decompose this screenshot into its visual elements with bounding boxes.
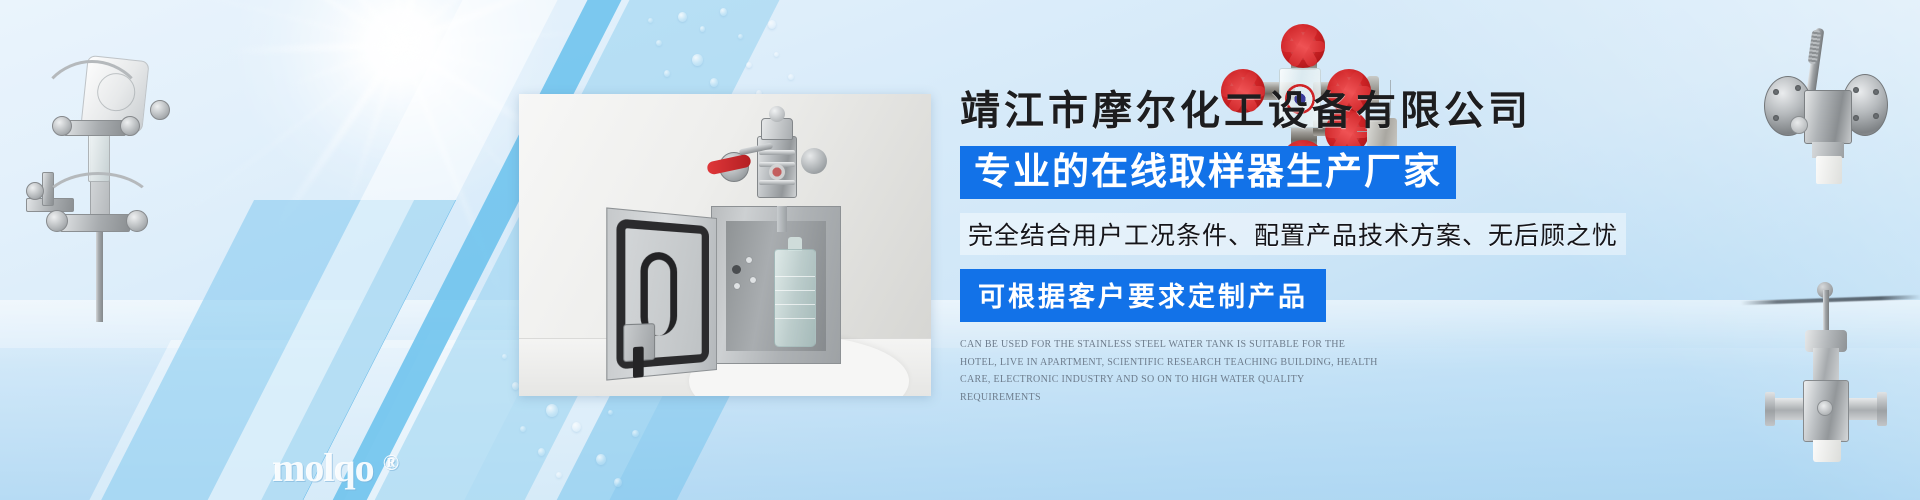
- watermark: molqo ®: [272, 448, 399, 488]
- door-latch: [623, 323, 655, 362]
- watermark-text: molqo: [272, 448, 374, 488]
- diagonal-stripe-white-lower: [329, 330, 551, 500]
- tubing-loop-upper: [34, 60, 150, 180]
- water-droplet-icon: [520, 426, 526, 432]
- water-droplet-icon: [608, 410, 613, 415]
- gate-valve-logo-icon: [1817, 400, 1833, 416]
- water-droplet-icon: [664, 70, 670, 77]
- english-description-text: CAN BE USED FOR THE STAINLESS STEEL WATE…: [960, 336, 1380, 406]
- valve-head-logo-icon: [769, 164, 785, 180]
- sunburst-ray-icon: [398, 44, 509, 310]
- sunburst-ray-icon: [320, 0, 402, 47]
- handwheel-top: [1281, 24, 1325, 68]
- valve-head-knob: [769, 106, 785, 122]
- sunburst-ray-icon: [174, 44, 400, 222]
- cabinet-screw-2: [750, 277, 756, 283]
- water-droplet-icon: [710, 78, 718, 87]
- promotional-banner: 靖江市摩尔化工设备有限公司 专业的在线取样器生产厂家 完全结合用户工况条件、配置…: [0, 0, 1920, 500]
- cabinet-door: [606, 207, 717, 380]
- water-droplet-icon: [632, 430, 639, 437]
- tubing-loop-lower: [38, 172, 158, 252]
- sunburst-ray-icon: [225, 42, 400, 55]
- water-droplet-icon: [614, 478, 622, 487]
- water-droplet-icon: [692, 54, 703, 66]
- valve-head-ring-3: [759, 180, 795, 185]
- sunburst-ray-icon: [399, 43, 517, 77]
- subline-text: 完全结合用户工况条件、配置产品技术方案、无后顾之忧: [960, 213, 1626, 255]
- water-droplet-icon: [512, 382, 519, 390]
- sunburst-ray-icon: [398, 0, 535, 47]
- diagonal-stripe-white-upper: [177, 0, 578, 500]
- customization-highlight-bar: 可根据客户要求定制产品: [960, 269, 1326, 322]
- product-photo: [519, 94, 931, 396]
- water-droplet-icon: [648, 18, 653, 23]
- lever-valve-image: [1750, 28, 1900, 198]
- sunburst-ray-icon: [399, 0, 615, 48]
- water-droplet-icon: [678, 12, 687, 22]
- sampler-valve-head: [741, 118, 811, 210]
- water-droplet-icon: [788, 74, 794, 80]
- water-droplet-icon: [738, 34, 743, 39]
- sample-bottle: [774, 249, 816, 347]
- water-droplet-icon: [768, 20, 776, 29]
- sunburst-ray-icon: [176, 0, 400, 46]
- gate-valve-bottom-cap: [1813, 440, 1841, 462]
- cabinet-screw-1: [746, 257, 752, 263]
- water-droplet-icon: [596, 454, 606, 465]
- water-droplet-icon: [656, 40, 662, 46]
- lever-valve-badge-icon: [1790, 116, 1808, 134]
- water-droplet-icon: [774, 52, 779, 57]
- sunburst-ray-icon: [400, 24, 685, 47]
- sunburst-ray-icon: [399, 0, 465, 46]
- water-droplet-icon: [720, 8, 727, 16]
- water-droplet-icon: [572, 422, 581, 432]
- registered-trademark-icon: ®: [383, 450, 399, 476]
- door-latch-bar: [633, 346, 644, 378]
- gate-valve-flange-right: [1877, 392, 1887, 426]
- banner-text-block: 靖江市摩尔化工设备有限公司 专业的在线取样器生产厂家 完全结合用户工况条件、配置…: [960, 88, 1720, 406]
- gate-valve-horizon-bar: [1741, 295, 1920, 305]
- sunburst-ray-icon: [157, 0, 401, 47]
- cabinet-port-hole: [732, 265, 741, 274]
- flange-e: [150, 100, 170, 120]
- tagline-highlight-bar: 专业的在线取样器生产厂家: [960, 146, 1456, 199]
- sunburst-ray-icon: [286, 43, 400, 89]
- water-droplet-icon: [746, 62, 752, 68]
- sunburst-ray-icon: [397, 0, 473, 46]
- water-droplet-icon: [700, 26, 705, 32]
- sunburst-glow-icon: [235, 0, 565, 210]
- sunburst-ray-icon: [268, 43, 402, 238]
- water-droplet-icon: [502, 354, 507, 359]
- gate-valve-port-left: [1773, 398, 1807, 420]
- valve-head-ring-1: [759, 150, 795, 155]
- gate-valve-port-right: [1845, 398, 1879, 420]
- water-droplet-icon: [556, 472, 562, 478]
- lever-valve-body: [1804, 90, 1852, 144]
- sunburst-ray-icon: [399, 45, 402, 165]
- lever-valve-bottom-cap: [1816, 156, 1842, 184]
- valve-head-flange-right: [801, 148, 827, 174]
- sampler-cabinet-body: [711, 206, 841, 364]
- water-droplet-icon: [546, 404, 558, 417]
- left-equipment-image: [8, 22, 188, 322]
- sunburst-ray-icon: [381, 0, 402, 45]
- gate-valve-flange-left: [1765, 392, 1775, 426]
- water-droplet-icon: [538, 448, 545, 456]
- sunburst-ray-icon: [333, 0, 401, 46]
- diagonal-stripe-accent: [246, 200, 456, 500]
- company-name: 靖江市摩尔化工设备有限公司: [960, 88, 1720, 134]
- photo-connector-tube: [777, 206, 787, 232]
- sunburst-ray-icon: [344, 44, 403, 212]
- gate-valve-image: [1765, 282, 1895, 462]
- cabinet-screw-3: [734, 283, 740, 289]
